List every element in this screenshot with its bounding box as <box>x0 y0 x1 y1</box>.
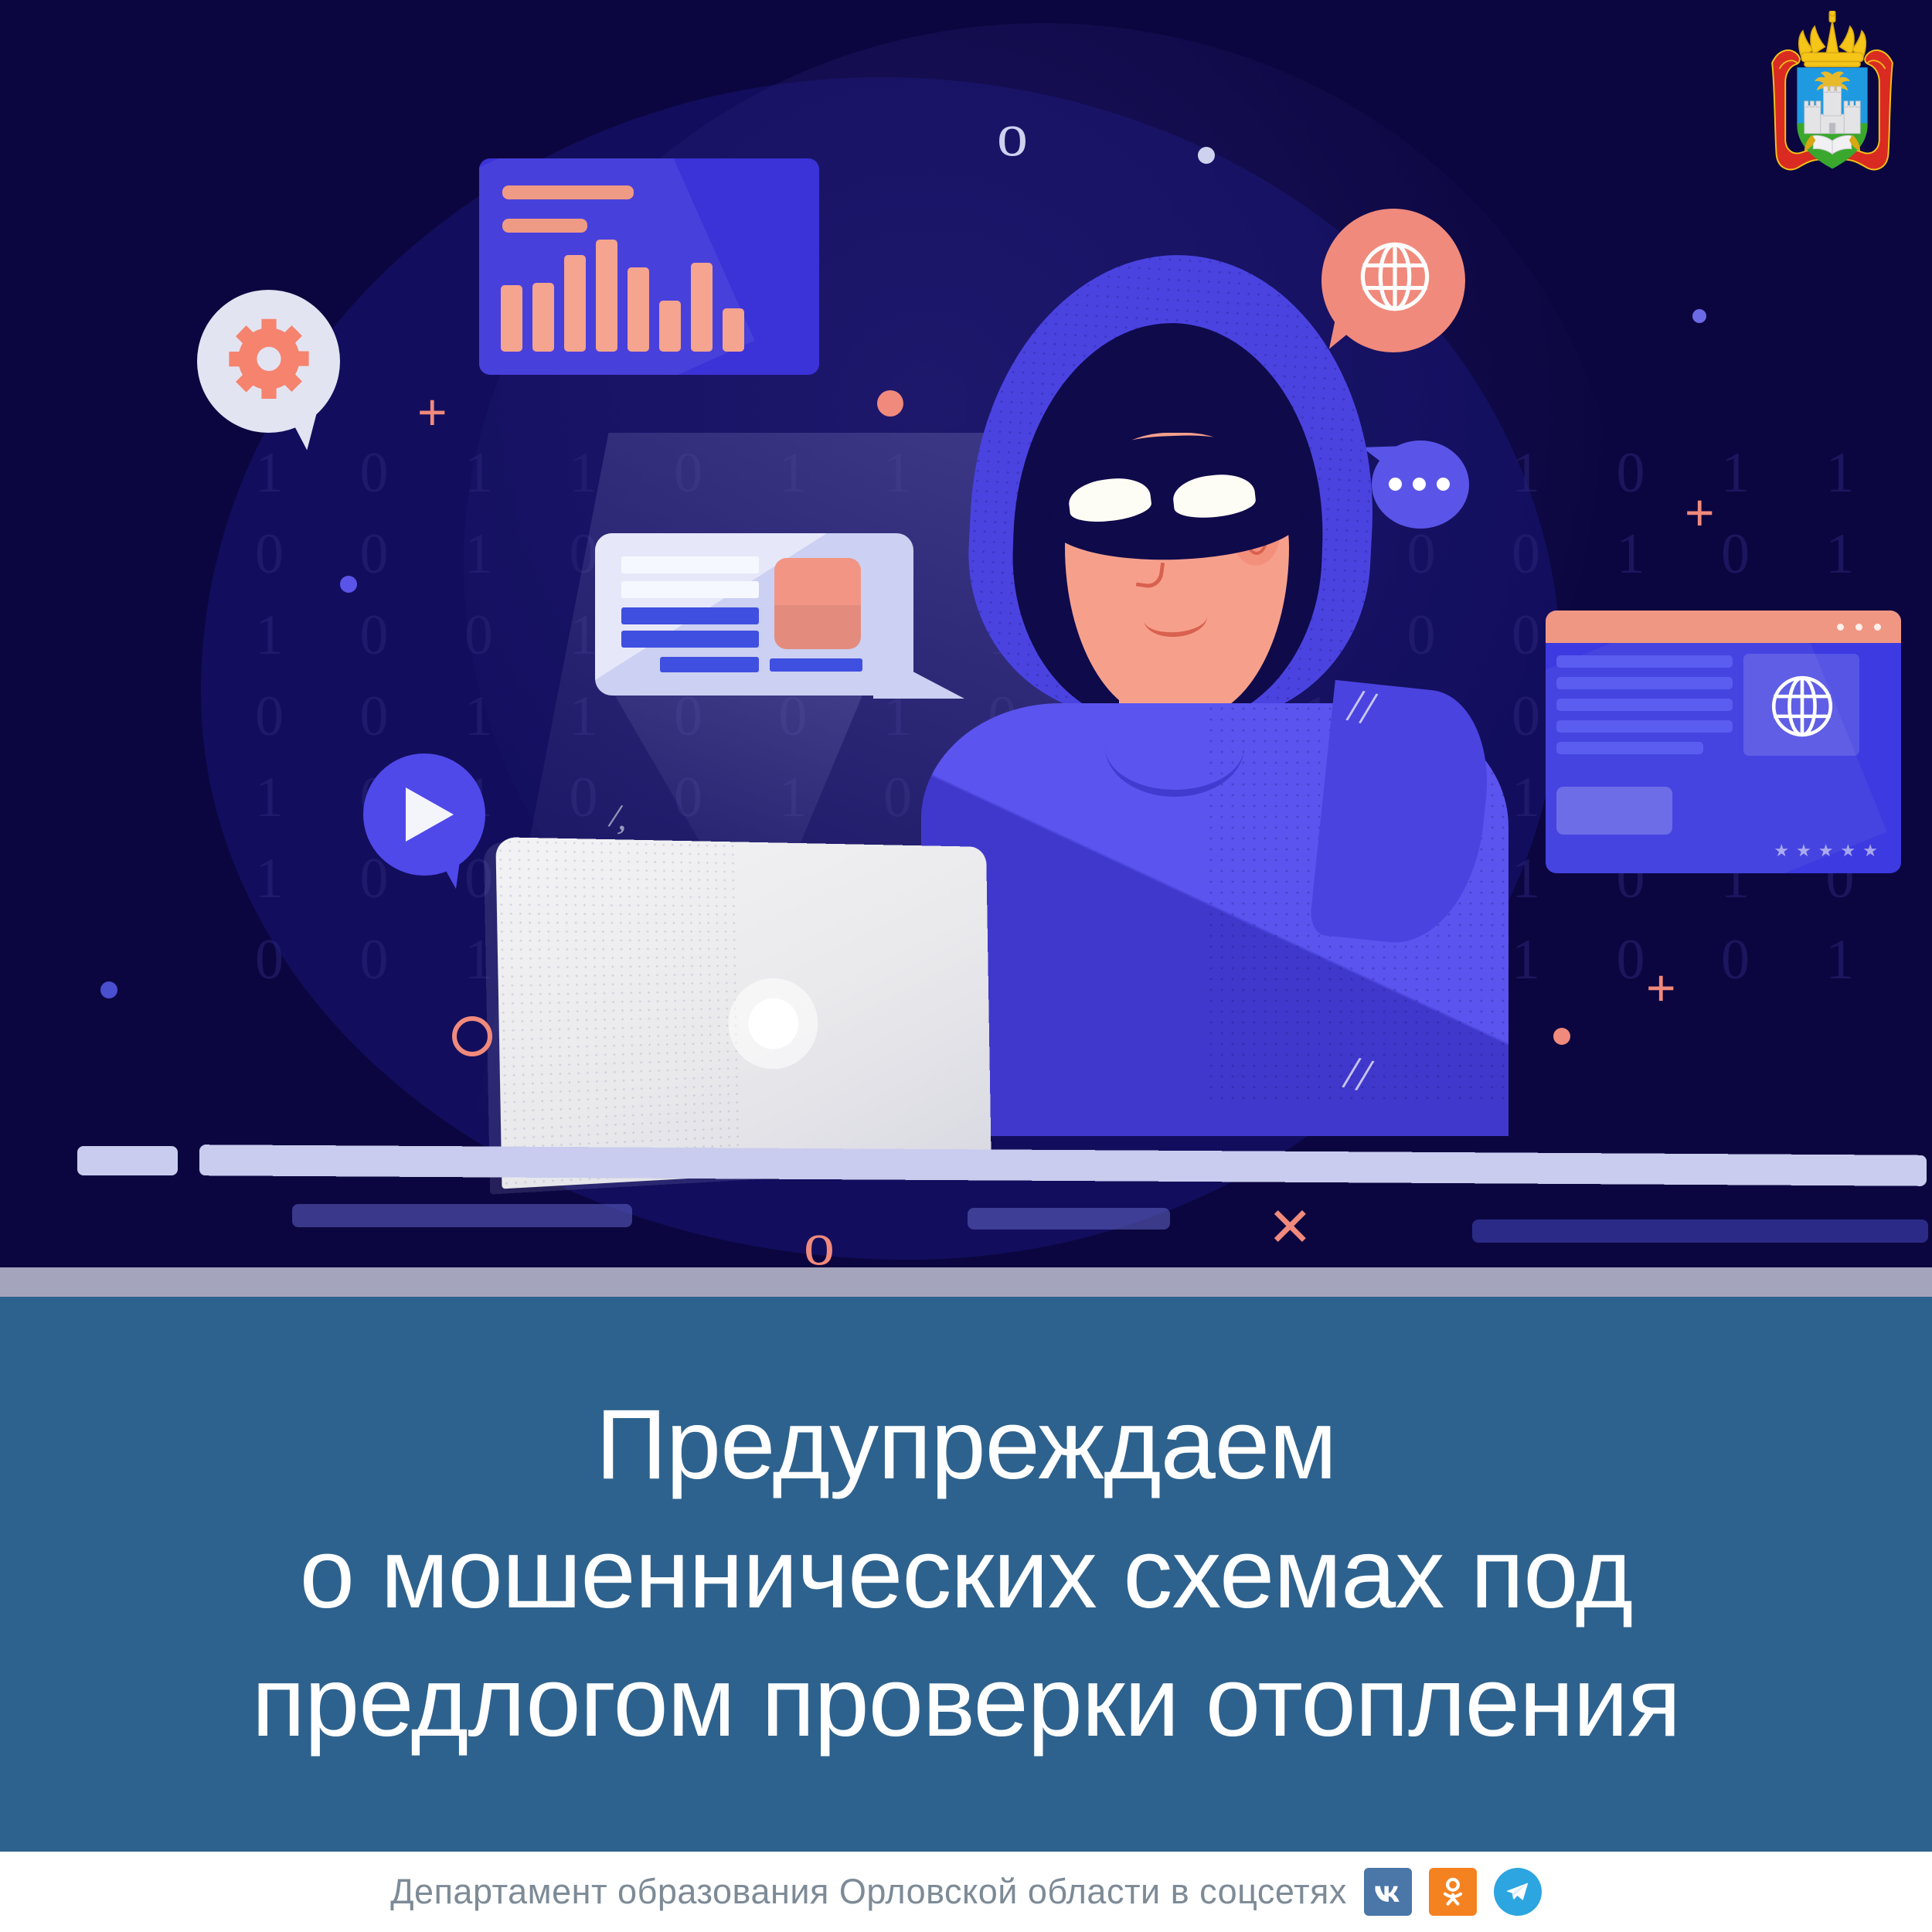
text-line <box>1556 655 1733 668</box>
headline-line-1: Предупреждаем <box>252 1381 1681 1509</box>
separator-strip <box>0 1267 1932 1297</box>
form-line <box>621 631 759 648</box>
desk-edge-stub <box>77 1146 178 1175</box>
form-card <box>595 533 913 696</box>
poster-root: 1 0 1 1 0 1 1 0 1 1 0 1 1 0 1 1 0 1 0 0 … <box>0 0 1932 1932</box>
rating-stars: ★ ★ ★ ★ ★ <box>1774 842 1878 859</box>
headline-band: Предупреждаем о мошеннических схемах под… <box>0 1297 1932 1852</box>
form-thumbnail <box>774 558 861 649</box>
plus-mark-icon: + <box>417 386 447 437</box>
text-line <box>1556 699 1733 711</box>
dot-mark-icon <box>1692 309 1706 323</box>
star-icon: ★ <box>1774 842 1789 859</box>
text-line <box>1556 742 1703 754</box>
text-line <box>1556 720 1733 733</box>
globe-icon <box>1767 671 1838 742</box>
footer-text: Департамент образования Орловской област… <box>390 1872 1347 1912</box>
browser-thumbnail <box>1743 654 1859 756</box>
form-line <box>621 556 759 573</box>
chart-bar <box>723 308 744 352</box>
dot-mark-icon <box>340 576 357 593</box>
dot-mark-icon <box>100 981 117 998</box>
play-bubble <box>363 753 485 876</box>
headline-line-2: о мошеннических схемах под <box>252 1510 1681 1638</box>
chart-bar <box>532 283 554 352</box>
bubble-body <box>197 290 340 433</box>
browser-button <box>1556 787 1672 835</box>
laptop-lid <box>495 837 991 1189</box>
hoodie-collar <box>1105 697 1244 797</box>
x-mark-icon: ✕ <box>1267 1202 1313 1256</box>
ring-mark-icon <box>452 1016 492 1056</box>
chart-bar <box>659 301 681 352</box>
plus-mark-icon: + <box>1685 487 1715 538</box>
desk-bar <box>968 1208 1170 1230</box>
chart-title-bar <box>502 185 634 199</box>
ok-icon[interactable] <box>1429 1868 1477 1916</box>
gear-bubble <box>197 290 340 433</box>
play-icon <box>406 787 454 842</box>
text-line <box>1556 677 1733 689</box>
browser-window: ★ ★ ★ ★ ★ <box>1546 611 1901 873</box>
window-dot-icon <box>1837 624 1844 631</box>
dot-mark-icon <box>1198 147 1215 164</box>
laptop-texture <box>495 837 740 1189</box>
hacker-figure <box>912 255 1515 1128</box>
hero-illustration: 1 0 1 1 0 1 1 0 1 1 0 1 1 0 1 1 0 1 0 0 … <box>0 0 1932 1267</box>
bubble-body <box>363 753 485 876</box>
page-title: Предупреждаем о мошеннических схемах под… <box>221 1381 1712 1767</box>
desk-bar <box>1472 1219 1928 1243</box>
o-mark-icon: o <box>804 1213 835 1267</box>
star-icon: ★ <box>1796 842 1811 859</box>
star-icon: ★ <box>1841 842 1856 859</box>
form-line <box>660 657 759 672</box>
gear-icon <box>223 315 315 408</box>
form-line <box>621 581 759 598</box>
chart-bars <box>501 224 804 352</box>
plus-mark-icon: + <box>1646 962 1676 1013</box>
dot-mark-icon <box>877 390 903 417</box>
telegram-glyph-icon <box>1502 1876 1533 1907</box>
laptop-logo-icon <box>727 978 818 1070</box>
window-dot-icon <box>1855 624 1862 631</box>
star-icon: ★ <box>1862 842 1878 859</box>
headline-line-3: предлогом проверки отопления <box>252 1638 1681 1767</box>
dot-mark-icon <box>1553 1028 1570 1045</box>
vk-glyph-icon <box>1371 1875 1405 1909</box>
desk-bar <box>292 1204 632 1227</box>
browser-titlebar <box>1546 611 1901 643</box>
bar-chart-card <box>479 158 819 375</box>
coat-of-arms-icon <box>1759 11 1906 189</box>
o-mark-icon: o <box>997 104 1028 166</box>
chart-bar <box>628 267 649 352</box>
chart-bar <box>564 255 586 352</box>
chart-bar <box>501 285 522 352</box>
form-button <box>770 658 862 672</box>
chart-bar <box>596 240 617 352</box>
desk-surface <box>199 1145 1927 1186</box>
telegram-icon[interactable] <box>1494 1868 1542 1916</box>
chart-bar <box>691 263 713 352</box>
footer-bar: Департамент образования Орловской област… <box>0 1852 1932 1932</box>
form-line <box>621 607 759 624</box>
ok-glyph-icon <box>1436 1875 1470 1909</box>
window-dot-icon <box>1874 624 1881 631</box>
star-icon: ★ <box>1818 842 1834 859</box>
vk-icon[interactable] <box>1364 1868 1412 1916</box>
